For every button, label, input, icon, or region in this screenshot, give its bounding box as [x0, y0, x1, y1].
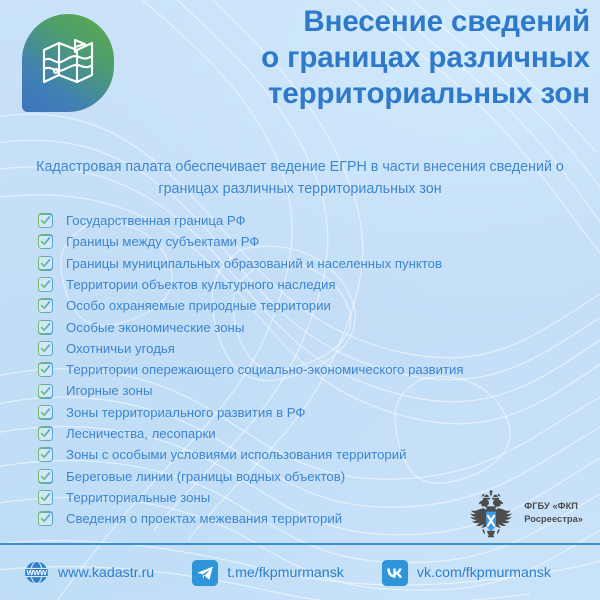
www-globe-icon: WWW: [24, 560, 49, 585]
checkbox-checked-icon[interactable]: [38, 320, 53, 335]
org-logo: ФГБУ «ФКП Росреестра»: [465, 488, 583, 538]
checklist-item[interactable]: Охотничьи угодья: [38, 338, 586, 359]
footer-link-telegram-label: t.me/fkpmurmansk: [227, 565, 344, 581]
title-line-1: Внесение сведений: [130, 4, 590, 40]
footer-link-website[interactable]: WWW www.kadastr.ru: [24, 560, 154, 585]
svg-text:WWW: WWW: [26, 568, 47, 577]
checklist-item[interactable]: Территории опережающего социально-эконом…: [38, 359, 586, 380]
checklist-item-label: Особые экономические зоны: [66, 321, 244, 334]
checklist-item-label: Лесничества, лесопарки: [66, 427, 216, 440]
checklist-item-label: Границы муниципальных образований и насе…: [66, 257, 442, 270]
poster-header: Внесение сведений о границах различных т…: [0, 0, 600, 148]
footer-link-vk[interactable]: vk.com/fkpmurmansk: [382, 560, 551, 586]
org-logo-line-1: ФГБУ «ФКП: [524, 500, 583, 513]
checkbox-checked-icon[interactable]: [38, 447, 53, 462]
checklist-item-label: Границы между субъектами РФ: [66, 235, 259, 248]
vk-icon: [382, 560, 408, 586]
checkbox-checked-icon[interactable]: [38, 426, 53, 441]
telegram-icon: [192, 560, 218, 586]
checklist-item[interactable]: Территории объектов культурного наследия: [38, 274, 586, 295]
org-logo-text: ФГБУ «ФКП Росреестра»: [524, 500, 583, 525]
subtitle-line-1: Кадастровая палата обеспечивает ведение …: [10, 156, 590, 178]
title-line-2: о границах различных: [130, 40, 590, 76]
footer-link-vk-label: vk.com/fkpmurmansk: [417, 565, 551, 581]
checklist-item-label: Территориальные зоны: [66, 491, 210, 504]
subtitle-line-2: границах различных территориальных зон: [10, 178, 590, 200]
checklist-item[interactable]: Лесничества, лесопарки: [38, 423, 586, 444]
checkbox-checked-icon[interactable]: [38, 490, 53, 505]
checklist-item[interactable]: Границы муниципальных образований и насе…: [38, 253, 586, 274]
checkbox-checked-icon[interactable]: [38, 341, 53, 356]
subtitle-text: Кадастровая палата обеспечивает ведение …: [10, 156, 590, 200]
page-title: Внесение сведений о границах различных т…: [130, 4, 590, 112]
checklist-item[interactable]: Зоны с особыми условиями использования т…: [38, 444, 586, 465]
infographic-poster: Внесение сведений о границах различных т…: [0, 0, 600, 600]
checklist-item-label: Охотничьи угодья: [66, 342, 175, 355]
checklist-item[interactable]: Игорные зоны: [38, 380, 586, 401]
checklist-item-label: Зоны территориального развития в РФ: [66, 406, 305, 419]
checkbox-checked-icon[interactable]: [38, 256, 53, 271]
footer-link-telegram[interactable]: t.me/fkpmurmansk: [192, 560, 344, 586]
checklist-item-label: Территории опережающего социально-эконом…: [66, 363, 464, 376]
footer-links: WWW www.kadastr.ru t.me/fkpmurmansk vk.c…: [0, 545, 600, 600]
title-line-3: территориальных зон: [130, 76, 590, 112]
checkbox-checked-icon[interactable]: [38, 384, 53, 399]
checklist-item[interactable]: Береговые линии (границы водных объектов…: [38, 466, 586, 487]
checklist-item[interactable]: Зоны территориального развития в РФ: [38, 402, 586, 423]
checkbox-checked-icon[interactable]: [38, 277, 53, 292]
rosreestr-eagle-emblem-icon: [465, 488, 517, 538]
checkbox-checked-icon[interactable]: [38, 469, 53, 484]
checklist-item-label: Государственная граница РФ: [66, 214, 246, 227]
checklist-item[interactable]: Границы между субъектами РФ: [38, 231, 586, 252]
checklist-item-label: Игорные зоны: [66, 384, 152, 397]
checkbox-checked-icon[interactable]: [38, 234, 53, 249]
checklist-item-label: Сведения о проектах межевания территорий: [66, 512, 342, 525]
checkbox-checked-icon[interactable]: [38, 298, 53, 313]
checklist-item[interactable]: Государственная граница РФ: [38, 210, 586, 231]
org-logo-line-2: Росреестра»: [524, 513, 583, 526]
footer-link-website-label: www.kadastr.ru: [58, 565, 154, 581]
checkbox-checked-icon[interactable]: [38, 405, 53, 420]
checklist-item[interactable]: Особо охраняемые природные территории: [38, 295, 586, 316]
checklist-item-label: Особо охраняемые природные территории: [66, 299, 331, 312]
checkbox-checked-icon[interactable]: [38, 213, 53, 228]
checkbox-checked-icon[interactable]: [38, 362, 53, 377]
checklist-item-label: Зоны с особыми условиями использования т…: [66, 448, 407, 461]
checklist-item-label: Береговые линии (границы водных объектов…: [66, 470, 345, 483]
folded-map-glyph: [41, 38, 95, 88]
checklist-item-label: Территории объектов культурного наследия: [66, 278, 336, 291]
checklist: Государственная граница РФГраницы между …: [38, 210, 586, 529]
map-pin-icon: [22, 14, 114, 112]
checkbox-checked-icon[interactable]: [38, 511, 53, 526]
checklist-item[interactable]: Особые экономические зоны: [38, 316, 586, 337]
